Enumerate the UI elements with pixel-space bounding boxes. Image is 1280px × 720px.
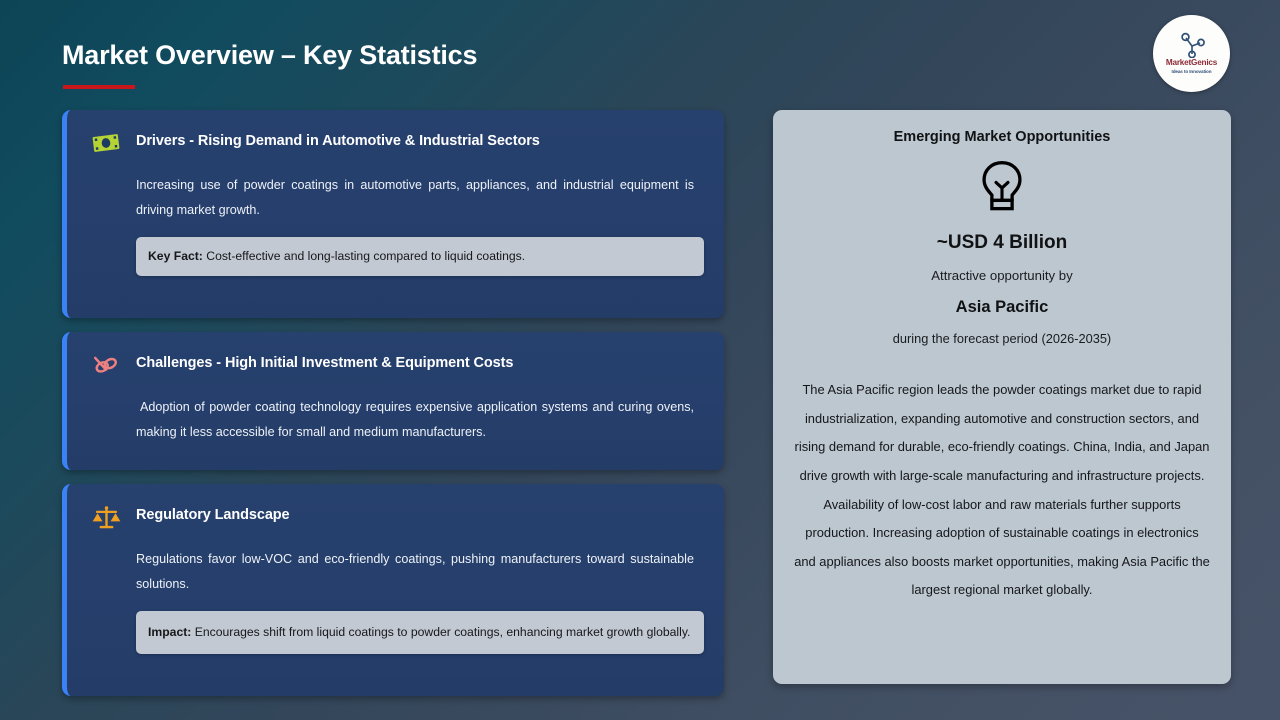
card-title: Challenges - High Initial Investment & E… — [136, 350, 513, 372]
logo-tagline: Ideas to Innovation — [1172, 69, 1212, 75]
card-header: Drivers - Rising Demand in Automotive & … — [89, 128, 704, 160]
brand-logo: MarketGenics Ideas to Innovation — [1153, 15, 1230, 92]
key-fact-label: Key Fact: — [148, 249, 203, 263]
impact-text: Encourages shift from liquid coatings to… — [191, 625, 690, 639]
key-fact-box: Key Fact: Cost-effective and long-lastin… — [136, 237, 704, 276]
card-challenges: Challenges - High Initial Investment & E… — [62, 332, 724, 470]
molecule-icon — [1177, 32, 1207, 58]
card-drivers: Drivers - Rising Demand in Automotive & … — [62, 110, 724, 318]
page-title: Market Overview – Key Statistics — [62, 40, 477, 71]
card-regulatory: Regulatory Landscape Regulations favor l… — [62, 484, 724, 696]
card-body: Adoption of powder coating technology re… — [136, 395, 704, 445]
lightbulb-icon — [791, 159, 1213, 216]
card-header: Challenges - High Initial Investment & E… — [89, 350, 704, 382]
title-underline-accent — [63, 85, 135, 89]
money-icon — [89, 126, 123, 160]
broken-link-icon — [89, 348, 123, 382]
card-title: Regulatory Landscape — [136, 502, 290, 524]
insight-cards-column: Drivers - Rising Demand in Automotive & … — [62, 110, 724, 710]
balance-scales-icon — [89, 500, 123, 534]
impact-label: Impact: — [148, 625, 191, 639]
card-header: Regulatory Landscape — [89, 502, 704, 534]
card-title: Drivers - Rising Demand in Automotive & … — [136, 128, 540, 150]
logo-name: MarketGenics — [1166, 59, 1217, 67]
card-body: Regulations favor low-VOC and eco-friend… — [136, 547, 704, 597]
panel-title: Emerging Market Opportunities — [791, 129, 1213, 145]
impact-box: Impact: Encourages shift from liquid coa… — [136, 611, 704, 654]
emerging-opportunities-panel: Emerging Market Opportunities ~USD 4 Bil… — [773, 110, 1231, 684]
panel-paragraph: The Asia Pacific region leads the powder… — [791, 376, 1213, 605]
opportunity-subtitle: Attractive opportunity by — [791, 268, 1213, 283]
card-body: Increasing use of powder coatings in aut… — [136, 173, 704, 223]
forecast-period: during the forecast period (2026-2035) — [791, 331, 1213, 346]
market-value: ~USD 4 Billion — [791, 232, 1213, 254]
key-fact-text: Cost-effective and long-lasting compared… — [203, 249, 525, 263]
region-name: Asia Pacific — [791, 298, 1213, 317]
